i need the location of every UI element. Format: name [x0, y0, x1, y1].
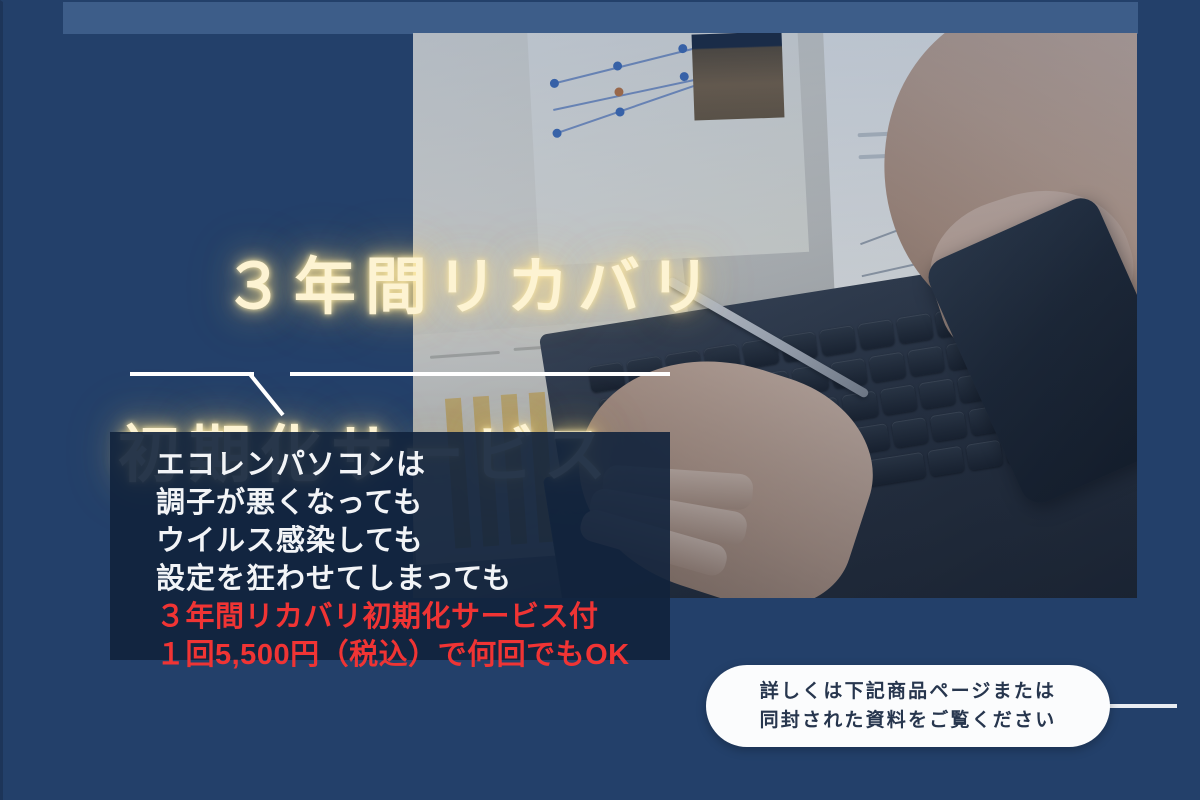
- info-line-2: 調子が悪くなっても: [156, 484, 676, 522]
- top-accent-band: [63, 0, 1138, 34]
- info-line-1: エコレンパソコンは: [156, 446, 676, 484]
- callout-line-1: 詳しくは下記商品ページまたは: [760, 681, 1056, 702]
- callout-line-2: 同封された資料をご覧ください: [760, 710, 1057, 731]
- bottom-strip: [0, 774, 1200, 800]
- info-line-4: 設定を狂わせてしまっても: [156, 560, 676, 598]
- promo-banner: ３年間リカバリ 初期化サービス エコレンパソコンは 調子が悪くなっても ウイルス…: [0, 0, 1200, 800]
- callout-text: 詳しくは下記商品ページまたは 同封された資料をご覧ください: [760, 677, 1057, 735]
- info-box: エコレンパソコンは 調子が悪くなっても ウイルス感染しても 設定を狂わせてしまっ…: [110, 432, 670, 660]
- info-line-6-price: １回5,500円（税込）で何回でもOK: [156, 636, 676, 674]
- headline-line-1: ３年間リカバリ: [223, 253, 720, 322]
- divider-rule-right: [290, 372, 670, 376]
- info-line-3: ウイルス感染しても: [156, 522, 676, 560]
- callout-pill[interactable]: 詳しくは下記商品ページまたは 同封された資料をご覧ください: [706, 665, 1110, 747]
- info-box-lines: エコレンパソコンは 調子が悪くなっても ウイルス感染しても 設定を狂わせてしまっ…: [156, 446, 676, 674]
- info-line-5-highlight: ３年間リカバリ初期化サービス付: [156, 598, 676, 636]
- divider-rule-left: [130, 372, 254, 376]
